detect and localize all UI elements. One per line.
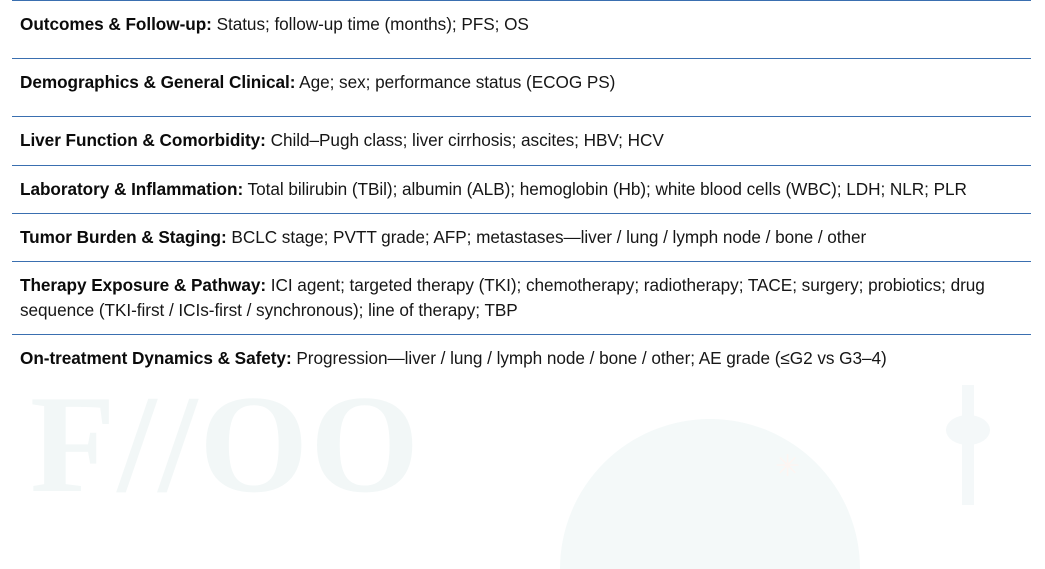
domain-items: BCLC stage; PVTT grade; AFP; metastases—…: [231, 227, 866, 247]
table-row: Demographics & General Clinical: Age; se…: [12, 58, 1031, 116]
table-row: Laboratory & Inflammation: Total bilirub…: [12, 165, 1031, 213]
table-row: Outcomes & Follow-up: Status; follow-up …: [12, 1, 1031, 59]
watermark-tower-shape: [962, 385, 974, 505]
domain-label: Outcomes & Follow-up:: [20, 14, 212, 34]
domain-label: Therapy Exposure & Pathway:: [20, 275, 266, 295]
domain-label: Laboratory & Inflammation:: [20, 179, 243, 199]
domain-items: Progression—liver / lung / lymph node / …: [296, 348, 886, 368]
table-row: Liver Function & Comorbidity: Child–Pugh…: [12, 116, 1031, 165]
table-cell: Liver Function & Comorbidity: Child–Pugh…: [12, 116, 1031, 165]
table-row: Tumor Burden & Staging: BCLC stage; PVTT…: [12, 213, 1031, 261]
domain-items: Status; follow-up time (months); PFS; OS: [217, 14, 529, 34]
table-cell: Outcomes & Follow-up: Status; follow-up …: [12, 1, 1031, 59]
watermark-arch-shape: [560, 419, 860, 569]
domain-label: Liver Function & Comorbidity:: [20, 130, 266, 150]
table-cell: Therapy Exposure & Pathway: ICI agent; t…: [12, 261, 1031, 334]
table-cell: On-treatment Dynamics & Safety: Progress…: [12, 334, 1031, 381]
domain-label: On-treatment Dynamics & Safety:: [20, 348, 292, 368]
table-container: Outcomes & Follow-up: Status; follow-up …: [0, 0, 1045, 382]
variable-domain-table: Outcomes & Follow-up: Status; follow-up …: [12, 0, 1031, 382]
table-row: On-treatment Dynamics & Safety: Progress…: [12, 334, 1031, 381]
watermark-sparkle-icon: ✳: [775, 452, 800, 482]
domain-items: Age; sex; performance status (ECOG PS): [299, 72, 615, 92]
domain-items: Total bilirubin (TBil); albumin (ALB); h…: [248, 179, 967, 199]
table-cell: Demographics & General Clinical: Age; se…: [12, 58, 1031, 116]
watermark-text: F//OO: [30, 364, 421, 525]
domain-label: Tumor Burden & Staging:: [20, 227, 227, 247]
domain-items: Child–Pugh class; liver cirrhosis; ascit…: [271, 130, 664, 150]
table-cell: Laboratory & Inflammation: Total bilirub…: [12, 165, 1031, 213]
table-row: Therapy Exposure & Pathway: ICI agent; t…: [12, 261, 1031, 334]
domain-label: Demographics & General Clinical:: [20, 72, 295, 92]
table-cell: Tumor Burden & Staging: BCLC stage; PVTT…: [12, 213, 1031, 261]
